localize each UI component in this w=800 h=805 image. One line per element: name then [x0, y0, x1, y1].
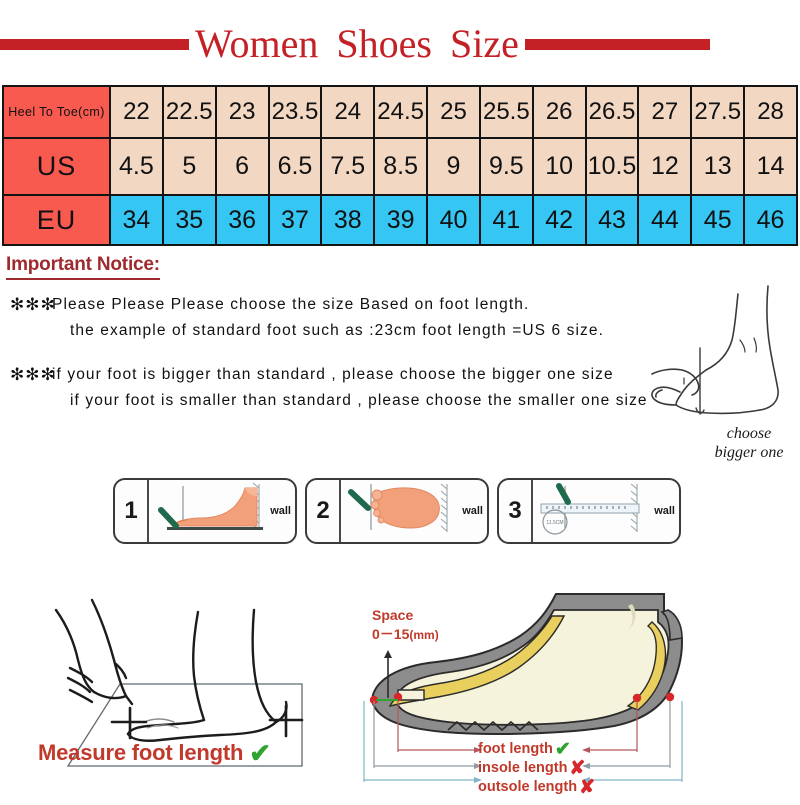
title-bar-left — [0, 39, 189, 50]
legend-row-insole-length: insole length ✘ — [478, 759, 595, 778]
cell-cm-11: 27.5 — [691, 86, 744, 138]
page-title-row: WomenShoesSize — [0, 18, 800, 70]
cell-cm-9: 26.5 — [586, 86, 639, 138]
row-header-eu: EU — [3, 195, 110, 245]
notice-1-line-1: Please Please Please choose the size Bas… — [52, 292, 675, 318]
title-bar-right — [525, 39, 710, 50]
legend-outsole-length-text: outsole length — [478, 779, 577, 796]
row-header-us: US — [3, 138, 110, 195]
cell-cm-2: 23 — [216, 86, 269, 138]
ruler-reading-text: 11.5CM — [546, 520, 563, 526]
step-number-3: 3 — [499, 480, 533, 542]
cell-cm-3: 23.5 — [269, 86, 322, 138]
cross-mark-icon: ✘ — [569, 759, 585, 778]
notice-2-line-2: if your foot is smaller than standard , … — [52, 388, 675, 414]
cell-eu-1: 35 — [163, 195, 216, 245]
table-row: EU 34 35 36 37 38 39 40 41 42 43 44 45 4… — [3, 195, 797, 245]
step-panel-1: 1 — [113, 478, 297, 544]
cell-us-1: 5 — [163, 138, 216, 195]
cell-eu-8: 42 — [533, 195, 586, 245]
cell-cm-5: 24.5 — [374, 86, 427, 138]
choose-caption-line-2: bigger one — [694, 443, 800, 462]
check-mark-icon: ✔ — [555, 740, 571, 759]
cell-eu-0: 34 — [110, 195, 163, 245]
cell-us-3: 6.5 — [269, 138, 322, 195]
cell-us-4: 7.5 — [321, 138, 374, 195]
table-row: US 4.5 5 6 6.5 7.5 8.5 9 9.5 10 10.5 12 … — [3, 138, 797, 195]
cell-us-9: 10.5 — [586, 138, 639, 195]
check-mark-icon: ✔ — [249, 740, 271, 766]
step-panel-3: 3 — [497, 478, 681, 544]
cell-us-5: 8.5 — [374, 138, 427, 195]
page-title-word-2: Shoes — [336, 21, 432, 66]
cell-cm-8: 26 — [533, 86, 586, 138]
cell-eu-6: 40 — [427, 195, 480, 245]
step-3-illustration: 11.5CM wall — [533, 480, 679, 542]
important-notice-body: ✻✻✻ Please Please Please choose the size… — [10, 292, 675, 432]
step-1-illustration: wall — [149, 480, 295, 542]
step-1-wall-label: wall — [270, 505, 291, 517]
measure-caption-text: Measure foot length — [38, 740, 243, 766]
step-2-illustration: wall — [341, 480, 487, 542]
space-label-line-1: Space — [372, 606, 439, 625]
cell-us-10: 12 — [638, 138, 691, 195]
measure-foot-length-caption: Measure foot length ✔ — [38, 740, 271, 766]
cell-us-2: 6 — [216, 138, 269, 195]
step-3-wall-label: wall — [654, 505, 675, 517]
step-number-1: 1 — [115, 480, 149, 542]
legend-foot-length-text: foot length — [478, 741, 553, 758]
cell-eu-7: 41 — [480, 195, 533, 245]
cell-cm-10: 27 — [638, 86, 691, 138]
choose-bigger-one-caption: choose bigger one — [694, 424, 800, 462]
step-panel-2: 2 — [305, 478, 489, 544]
cell-eu-12: 46 — [744, 195, 797, 245]
asterisk-icon: ✻✻✻ — [10, 362, 52, 388]
cell-us-0: 4.5 — [110, 138, 163, 195]
length-legend: foot length ✔ insole length ✘ outsole le… — [478, 740, 595, 797]
notice-1-line-2: the example of standard foot such as :23… — [52, 318, 675, 344]
cross-mark-icon: ✘ — [579, 778, 595, 797]
legend-row-foot-length: foot length ✔ — [478, 740, 595, 759]
cell-cm-0: 22 — [110, 86, 163, 138]
row-header-heel-to-toe: Heel To Toe(cm) — [3, 86, 110, 138]
cell-eu-10: 44 — [638, 195, 691, 245]
page-title-word-3: Size — [450, 21, 519, 66]
step-2-wall-label: wall — [462, 505, 483, 517]
page-title-word-1: Women — [195, 21, 318, 66]
cell-cm-6: 25 — [427, 86, 480, 138]
asterisk-icon: ✻✻✻ — [10, 292, 52, 318]
important-notice-heading: Important Notice: — [6, 254, 160, 280]
table-row: Heel To Toe(cm) 22 22.5 23 23.5 24 24.5 … — [3, 86, 797, 138]
cell-eu-2: 36 — [216, 195, 269, 245]
page-title: WomenShoesSize — [195, 21, 519, 67]
cell-cm-4: 24 — [321, 86, 374, 138]
step-number-2: 2 — [307, 480, 341, 542]
choose-caption-line-1: choose — [694, 424, 800, 443]
notice-2-line-1: if your foot is bigger than standard , p… — [52, 362, 675, 388]
space-label-unit: (mm) — [409, 628, 438, 642]
cell-eu-9: 43 — [586, 195, 639, 245]
size-chart-table: Heel To Toe(cm) 22 22.5 23 23.5 24 24.5 … — [2, 85, 798, 246]
cell-eu-5: 39 — [374, 195, 427, 245]
cell-cm-7: 25.5 — [480, 86, 533, 138]
cell-us-7: 9.5 — [480, 138, 533, 195]
cell-us-11: 13 — [691, 138, 744, 195]
foot-pinch-sketch-icon — [640, 282, 800, 432]
notice-item-1: ✻✻✻ Please Please Please choose the size… — [10, 292, 675, 344]
cell-eu-4: 38 — [321, 195, 374, 245]
cell-eu-3: 37 — [269, 195, 322, 245]
cell-us-6: 9 — [427, 138, 480, 195]
cell-cm-12: 28 — [744, 86, 797, 138]
measure-steps-row: 1 — [113, 478, 681, 544]
legend-insole-length-text: insole length — [478, 760, 567, 777]
cell-us-8: 10 — [533, 138, 586, 195]
cell-cm-1: 22.5 — [163, 86, 216, 138]
cell-us-12: 14 — [744, 138, 797, 195]
notice-item-2: ✻✻✻ if your foot is bigger than standard… — [10, 362, 675, 414]
space-annotation: Space 0－15(mm) — [372, 606, 439, 645]
space-label-range: 0－15 — [372, 626, 409, 642]
legend-row-outsole-length: outsole length ✘ — [478, 778, 595, 797]
cell-eu-11: 45 — [691, 195, 744, 245]
